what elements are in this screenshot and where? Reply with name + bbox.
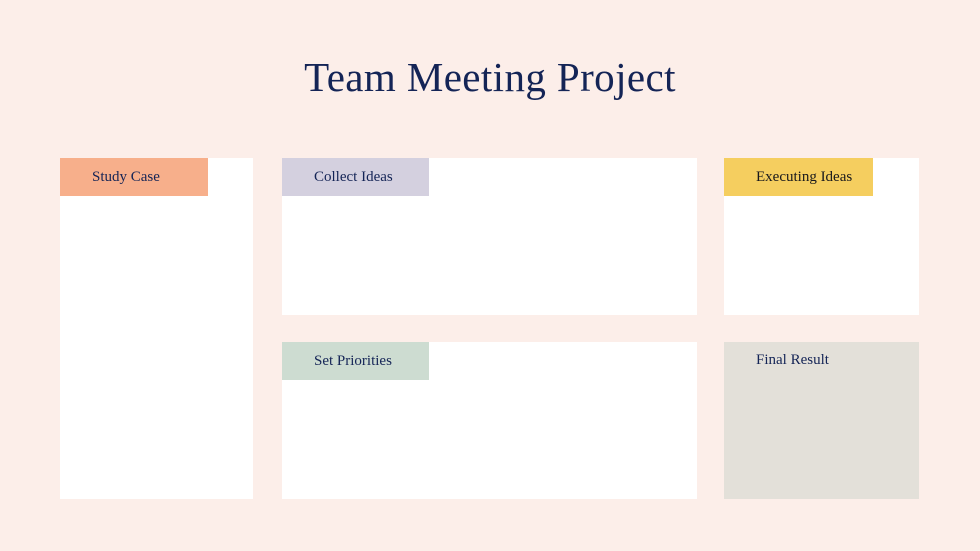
card-executing-ideas[interactable]: Executing Ideas	[724, 158, 919, 315]
card-final-result-label: Final Result	[756, 353, 829, 368]
slide-canvas: Team Meeting Project Study Case Collect …	[0, 0, 980, 551]
card-executing-ideas-header[interactable]: Executing Ideas	[724, 158, 873, 196]
card-set-priorities-header[interactable]: Set Priorities	[282, 342, 429, 380]
card-study-case-body[interactable]	[60, 158, 253, 499]
card-study-case[interactable]: Study Case	[60, 158, 253, 499]
card-study-case-header[interactable]: Study Case	[60, 158, 208, 196]
card-set-priorities-label: Set Priorities	[314, 354, 392, 369]
card-collect-ideas-header[interactable]: Collect Ideas	[282, 158, 429, 196]
card-study-case-label: Study Case	[92, 170, 160, 185]
card-final-result[interactable]: Final Result	[724, 342, 919, 499]
card-collect-ideas[interactable]: Collect Ideas	[282, 158, 697, 315]
card-executing-ideas-label: Executing Ideas	[756, 170, 852, 185]
card-collect-ideas-label: Collect Ideas	[314, 170, 393, 185]
card-set-priorities[interactable]: Set Priorities	[282, 342, 697, 499]
page-title: Team Meeting Project	[0, 55, 980, 100]
